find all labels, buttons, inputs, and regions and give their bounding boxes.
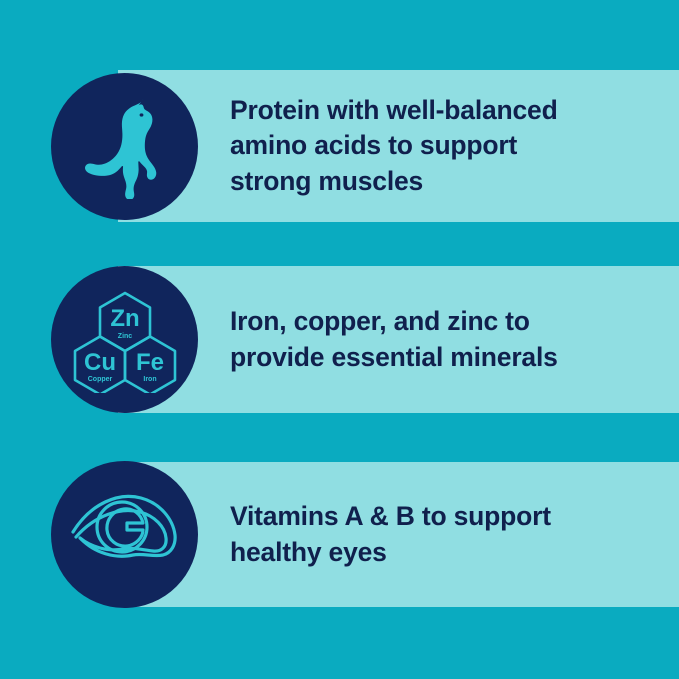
minerals-hexagons-icon: Zn Zinc Cu Copper Fe Iron <box>69 287 181 393</box>
icon-badge-protein <box>51 73 198 220</box>
feature-row-minerals: Zn Zinc Cu Copper Fe Iron Iron, copper, … <box>0 256 679 423</box>
feature-row-protein: Protein with well-balanced amino acids t… <box>0 60 679 232</box>
element-name-zinc: Zinc <box>117 333 131 340</box>
eye-icon <box>67 485 183 585</box>
feature-text-minerals: Iron, copper, and zinc to provide essent… <box>230 304 558 374</box>
icon-badge-minerals: Zn Zinc Cu Copper Fe Iron <box>51 266 198 413</box>
dog-silhouette-icon <box>72 93 178 199</box>
icon-badge-vitamins <box>51 461 198 608</box>
element-symbol-fe: Fe <box>135 349 163 376</box>
feature-text-vitamins: Vitamins A & B to support healthy eyes <box>230 499 551 569</box>
element-name-iron: Iron <box>143 376 156 383</box>
element-symbol-zn: Zn <box>110 305 139 332</box>
element-name-copper: Copper <box>87 376 112 383</box>
element-symbol-cu: Cu <box>84 349 116 376</box>
feature-row-vitamins: Vitamins A & B to support healthy eyes <box>0 452 679 617</box>
feature-infographic: Protein with well-balanced amino acids t… <box>0 0 679 679</box>
feature-text-protein: Protein with well-balanced amino acids t… <box>230 93 558 199</box>
